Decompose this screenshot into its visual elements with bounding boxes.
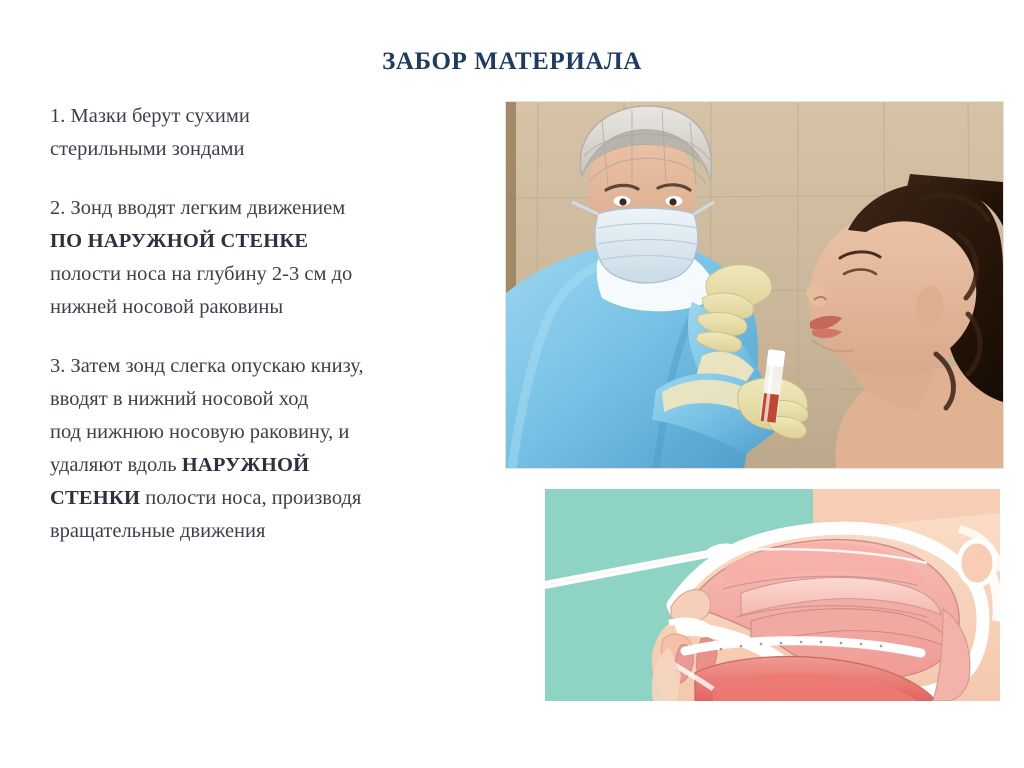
instruction-text-emphasis: НАРУЖНОЙ xyxy=(182,454,310,476)
slide-root: ЗАБОР МАТЕРИАЛА 1. Мазки берут сухими ст… xyxy=(0,0,1024,768)
instruction-line-emphasis: ПО НАРУЖНОЙ СТЕНКЕ xyxy=(50,225,490,258)
instruction-line: вращательные движения xyxy=(50,515,490,548)
instruction-line: 2. Зонд вводят легким движением xyxy=(50,192,490,225)
instruction-line: 1. Мазки берут сухими xyxy=(50,100,490,133)
nasal-cavity-cross-section-diagram xyxy=(545,489,1000,701)
instruction-line: под нижнюю носовую раковину, и xyxy=(50,416,490,449)
instruction-line: вводят в нижний носовой ход xyxy=(50,383,490,416)
instruction-line: 3. Затем зонд слегка опускаю книзу, xyxy=(50,350,490,383)
instruction-text-emphasis: СТЕНКИ xyxy=(50,487,140,509)
instruction-item-3: 3. Затем зонд слегка опускаю книзу, ввод… xyxy=(50,350,490,548)
instruction-line: стерильными зондами xyxy=(50,133,490,166)
nasal-swab-procedure-photo xyxy=(506,102,1003,468)
instruction-line: полости носа на глубину 2-3 см до xyxy=(50,258,490,291)
page-title: ЗАБОР МАТЕРИАЛА xyxy=(0,48,1024,76)
instruction-line: удаляют вдоль НАРУЖНОЙ xyxy=(50,449,490,482)
instruction-item-2: 2. Зонд вводят легким движением ПО НАРУЖ… xyxy=(50,192,490,324)
instruction-list: 1. Мазки берут сухими стерильными зондам… xyxy=(50,100,490,548)
instruction-line: нижней носовой раковины xyxy=(50,291,490,324)
instruction-text: полости носа, производя xyxy=(140,487,361,509)
instruction-line: СТЕНКИ полости носа, производя xyxy=(50,482,490,515)
instruction-text: удаляют вдоль xyxy=(50,454,182,476)
instruction-item-1: 1. Мазки берут сухими стерильными зондам… xyxy=(50,100,490,166)
